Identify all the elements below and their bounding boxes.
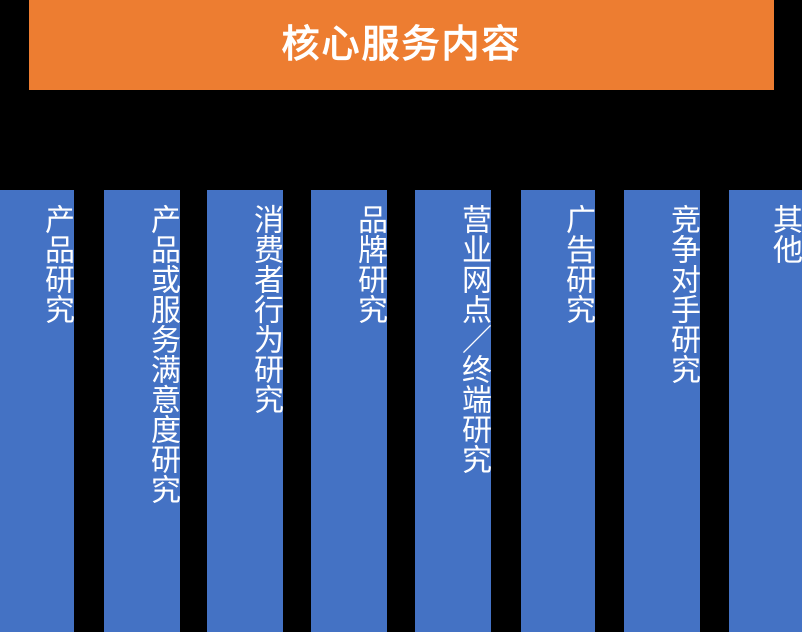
service-column-competitor-research[interactable]: 竞争对手研究 xyxy=(624,190,700,632)
service-column-label: 其他 xyxy=(729,204,802,264)
service-column-label: 品牌研究 xyxy=(311,204,387,324)
service-column-other[interactable]: 其他 xyxy=(729,190,802,632)
column-label-wrap: 产品研究 xyxy=(0,190,74,632)
service-column-label: 产品或服务满意度研究 xyxy=(104,204,180,504)
column-label-wrap: 其他 xyxy=(729,190,802,632)
column-label-wrap: 营业网点／终端研究 xyxy=(415,190,491,632)
service-column-advertising-research[interactable]: 广告研究 xyxy=(521,190,595,632)
service-column-label: 广告研究 xyxy=(521,204,595,324)
service-column-label: 营业网点／终端研究 xyxy=(415,204,491,474)
service-columns-container: 产品研究 产品或服务满意度研究 消费者行为研究 品牌研究 营业网点／终端研究 xyxy=(0,190,802,632)
column-label-wrap: 消费者行为研究 xyxy=(207,190,283,632)
service-column-label: 产品研究 xyxy=(0,204,74,324)
service-column-satisfaction-research[interactable]: 产品或服务满意度研究 xyxy=(104,190,180,632)
service-column-consumer-behavior-research[interactable]: 消费者行为研究 xyxy=(207,190,283,632)
service-column-label: 消费者行为研究 xyxy=(207,204,283,414)
column-label-wrap: 广告研究 xyxy=(521,190,595,632)
service-column-label: 竞争对手研究 xyxy=(624,204,700,384)
page-title: 核心服务内容 xyxy=(281,26,521,64)
service-column-outlet-terminal-research[interactable]: 营业网点／终端研究 xyxy=(415,190,491,632)
column-label-wrap: 产品或服务满意度研究 xyxy=(104,190,180,632)
service-column-product-research[interactable]: 产品研究 xyxy=(0,190,74,632)
column-label-wrap: 竞争对手研究 xyxy=(624,190,700,632)
column-label-wrap: 品牌研究 xyxy=(311,190,387,632)
header-banner: 核心服务内容 xyxy=(29,0,774,90)
service-column-brand-research[interactable]: 品牌研究 xyxy=(311,190,387,632)
slide-canvas: 核心服务内容 产品研究 产品或服务满意度研究 消费者行为研究 品牌研究 营业网点 xyxy=(0,0,802,632)
